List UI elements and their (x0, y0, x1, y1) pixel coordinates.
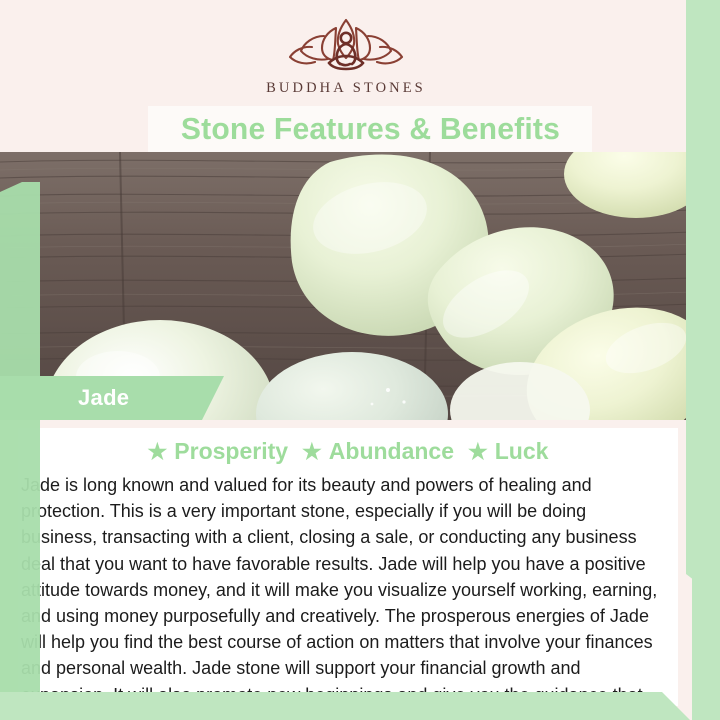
stone-name: Jade (78, 385, 129, 411)
benefit-label: Prosperity (174, 438, 288, 465)
stone-name-banner: Jade (0, 376, 224, 420)
benefit-label: Luck (495, 438, 549, 465)
lotus-meditation-figure-icon (282, 14, 410, 76)
star-icon: ★ (148, 441, 168, 463)
benefits-list: ★ Prosperity ★ Abundance ★ Luck (18, 438, 678, 465)
star-icon: ★ (302, 441, 322, 463)
benefit-label: Abundance (329, 438, 454, 465)
description-text: Jade is long known and valued for its be… (21, 472, 665, 720)
bottom-green-accent (0, 692, 720, 720)
content-section: ★ Prosperity ★ Abundance ★ Luck Jade is … (0, 420, 692, 720)
left-green-accent (0, 182, 40, 720)
right-green-accent (686, 0, 720, 600)
brand-name: BUDDHA STONES (266, 80, 426, 97)
star-icon: ★ (468, 441, 488, 463)
benefit-item: ★ Luck (468, 438, 548, 465)
brand-logo: BUDDHA STONES (0, 14, 692, 97)
title-banner: Stone Features & Benefits (148, 106, 592, 152)
benefit-item: ★ Prosperity (148, 438, 289, 465)
content-card: ★ Prosperity ★ Abundance ★ Luck Jade is … (18, 428, 678, 706)
benefit-item: ★ Abundance (302, 438, 454, 465)
poster: BUDDHA STONES Stone Features & Benefits (0, 0, 720, 720)
page-title: Stone Features & Benefits (180, 111, 559, 147)
